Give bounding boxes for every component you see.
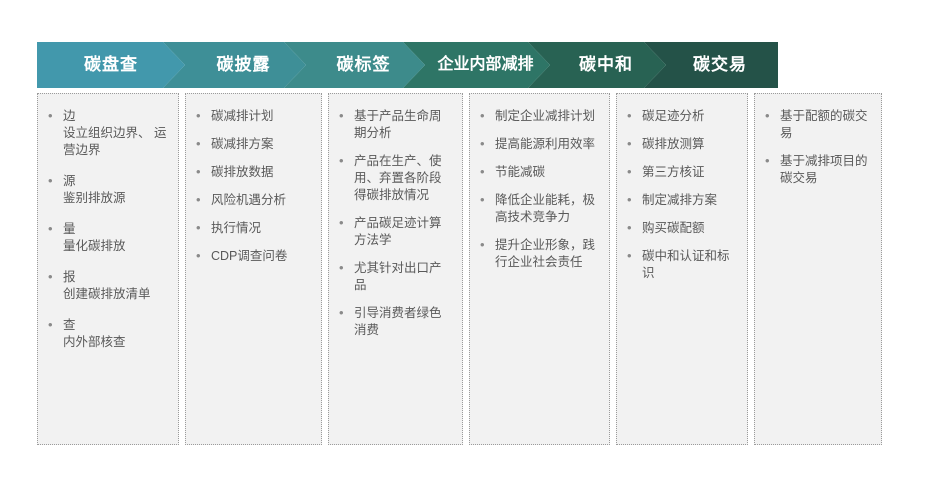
stage-body-row: 边设立组织边界、 运营边界源鉴别排放源量量化碳排放报创建碳排放清单查内外部核查碳… xyxy=(37,93,888,445)
bullet-item: 降低企业能耗，极高技术竞争力 xyxy=(478,192,599,226)
bullet-item: 风险机遇分析 xyxy=(194,192,311,209)
bullet-item: 制定企业减排计划 xyxy=(478,108,599,125)
stage-header-label-5: 碳中和 xyxy=(561,42,633,88)
bullet-item: 购买碳配额 xyxy=(625,220,737,237)
bullet-item: 源鉴别排放源 xyxy=(46,173,168,207)
bullet-item: 产品碳足迹计算方法学 xyxy=(337,215,452,249)
stage-body-4: 制定企业减排计划提高能源利用效率节能减碳降低企业能耗，极高技术竞争力提升企业形象… xyxy=(469,93,610,445)
bullet-item: 碳中和认证和标识 xyxy=(625,248,737,282)
bullet-description: 量化碳排放 xyxy=(63,238,168,255)
bullet-item: 基于配额的碳交易 xyxy=(763,108,871,142)
bullet-item: 碳排放测算 xyxy=(625,136,737,153)
bullet-item: 碳排放数据 xyxy=(194,164,311,181)
stage-header-label-1: 碳盘查 xyxy=(84,42,138,88)
bullet-keyword: 查 xyxy=(63,317,168,334)
bullet-item: 第三方核证 xyxy=(625,164,737,181)
bullet-description: 鉴别排放源 xyxy=(63,190,168,207)
bullet-keyword: 报 xyxy=(63,269,168,286)
bullet-item: 碳足迹分析 xyxy=(625,108,737,125)
bullet-item: CDP调查问卷 xyxy=(194,248,311,265)
stage-body-5: 碳足迹分析碳排放测算第三方核证制定减排方案购买碳配额碳中和认证和标识 xyxy=(616,93,748,445)
bullet-keyword: 源 xyxy=(63,173,168,190)
bullet-item: 提高能源利用效率 xyxy=(478,136,599,153)
bullet-keyword: 边 xyxy=(63,108,168,125)
stage-header-4[interactable]: 企业内部减排 xyxy=(403,42,550,88)
bullet-description: 设立组织边界、 运营边界 xyxy=(63,125,168,159)
stage-header-label-2: 碳披露 xyxy=(199,42,271,88)
chevron-header-row: 碳盘查碳披露碳标签企业内部减排碳中和碳交易 xyxy=(37,42,888,88)
bullet-description: 创建碳排放清单 xyxy=(63,286,168,303)
stage-header-label-6: 碳交易 xyxy=(675,42,747,88)
stage-header-label-3: 碳标签 xyxy=(319,42,391,88)
stage-bullet-list-1: 边设立组织边界、 运营边界源鉴别排放源量量化碳排放报创建碳排放清单查内外部核查 xyxy=(46,108,168,351)
bullet-item: 基于减排项目的碳交易 xyxy=(763,153,871,187)
bullet-item: 节能减碳 xyxy=(478,164,599,181)
bullet-item: 尤其针对出口产品 xyxy=(337,260,452,294)
stage-body-6: 基于配额的碳交易基于减排项目的碳交易 xyxy=(754,93,882,445)
bullet-item: 提升企业形象，践行企业社会责任 xyxy=(478,237,599,271)
bullet-keyword: 量 xyxy=(63,221,168,238)
stage-body-3: 基于产品生命周期分析产品在生产、使用、弃置各阶段得碳排放情况产品碳足迹计算方法学… xyxy=(328,93,463,445)
bullet-item: 报创建碳排放清单 xyxy=(46,269,168,303)
bullet-item: 制定减排方案 xyxy=(625,192,737,209)
bullet-description: 内外部核查 xyxy=(63,334,168,351)
bullet-item: 量量化碳排放 xyxy=(46,221,168,255)
bullet-item: 查内外部核查 xyxy=(46,317,168,351)
bullet-item: 碳减排计划 xyxy=(194,108,311,125)
stage-body-1: 边设立组织边界、 运营边界源鉴别排放源量量化碳排放报创建碳排放清单查内外部核查 xyxy=(37,93,179,445)
stage-bullet-list-6: 基于配额的碳交易基于减排项目的碳交易 xyxy=(763,108,871,187)
stage-bullet-list-5: 碳足迹分析碳排放测算第三方核证制定减排方案购买碳配额碳中和认证和标识 xyxy=(625,108,737,282)
bullet-item: 引导消费者绿色消费 xyxy=(337,305,452,339)
bullet-item: 产品在生产、使用、弃置各阶段得碳排放情况 xyxy=(337,153,452,204)
bullet-item: 碳减排方案 xyxy=(194,136,311,153)
bullet-item: 边设立组织边界、 运营边界 xyxy=(46,108,168,159)
diagram-canvas: 碳盘查碳披露碳标签企业内部减排碳中和碳交易 边设立组织边界、 运营边界源鉴别排放… xyxy=(0,0,925,490)
stage-bullet-list-2: 碳减排计划碳减排方案碳排放数据风险机遇分析执行情况CDP调查问卷 xyxy=(194,108,311,265)
bullet-item: 基于产品生命周期分析 xyxy=(337,108,452,142)
stage-bullet-list-4: 制定企业减排计划提高能源利用效率节能减碳降低企业能耗，极高技术竞争力提升企业形象… xyxy=(478,108,599,271)
stage-bullet-list-3: 基于产品生命周期分析产品在生产、使用、弃置各阶段得碳排放情况产品碳足迹计算方法学… xyxy=(337,108,452,339)
stage-header-1[interactable]: 碳盘查 xyxy=(37,42,185,88)
stage-header-label-4: 企业内部减排 xyxy=(419,42,533,88)
bullet-item: 执行情况 xyxy=(194,220,311,237)
stage-body-2: 碳减排计划碳减排方案碳排放数据风险机遇分析执行情况CDP调查问卷 xyxy=(185,93,322,445)
